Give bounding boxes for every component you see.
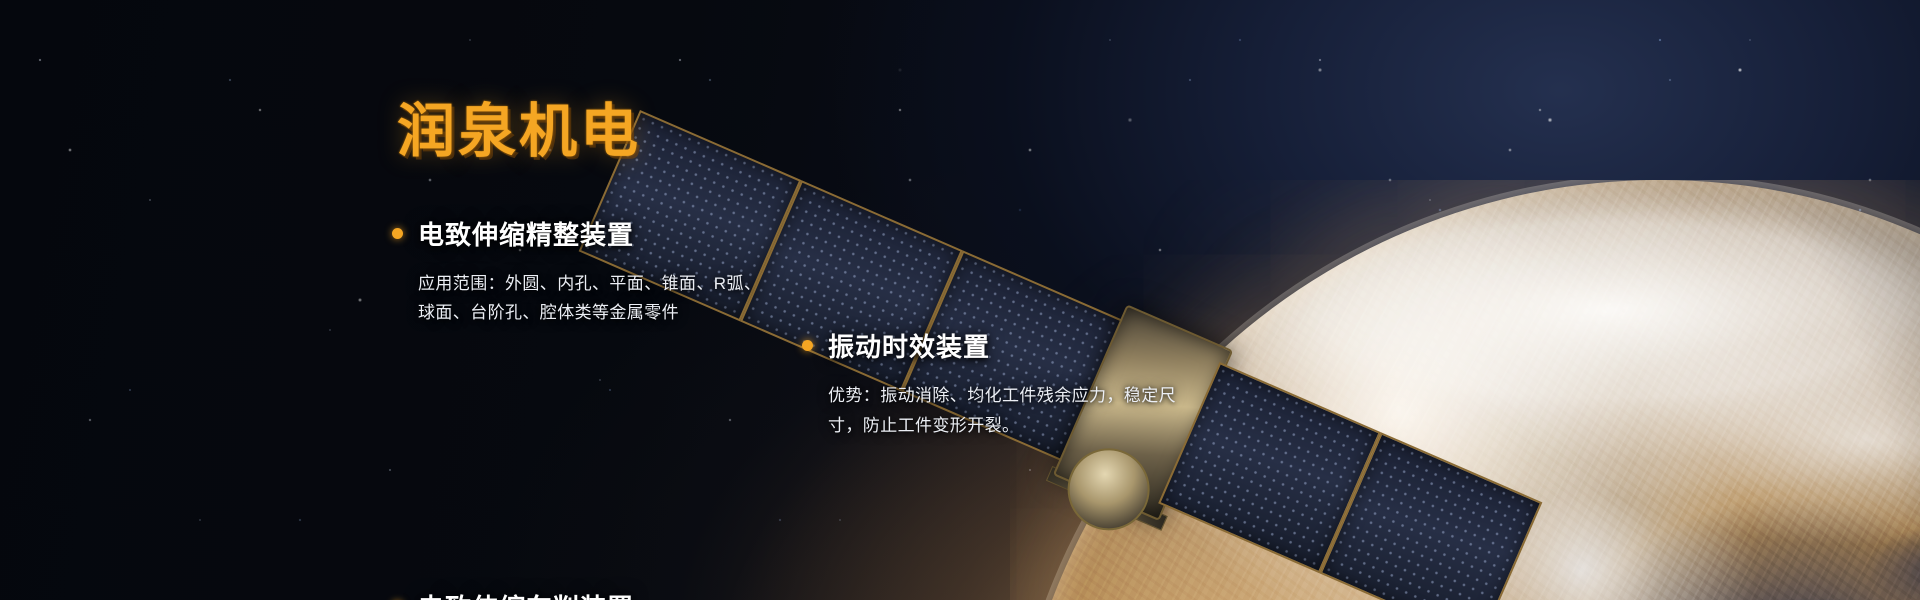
hero-banner: 润泉机电 电致伸缩精整装置 应用范围：外圆、内孔、平面、锥面、R弧、球面、台阶孔… xyxy=(0,0,1920,600)
feature-description: 优势：振动消除、均化工件残余应力，稳定尺寸，防止工件变形开裂。 xyxy=(802,381,1188,439)
feature-heading: 振动时效装置 xyxy=(802,327,1222,364)
feature-item-2[interactable]: 振动时效装置 优势：振动消除、均化工件残余应力，稳定尺寸，防止工件变形开裂。 xyxy=(802,327,1222,439)
feature-title: 电致伸缩车削装置 xyxy=(418,588,634,600)
feature-grid: 电致伸缩精整装置 应用范围：外圆、内孔、平面、锥面、R弧、球面、台阶孔、腔体类等… xyxy=(392,215,1272,600)
feature-item-3[interactable]: 电致伸缩车削装置 加工特点：针对钛、镍、锶、铌等稀有金属，解决车削工艺难题。 xyxy=(392,588,812,600)
bullet-dot-icon xyxy=(392,228,403,239)
feature-title: 振动时效装置 xyxy=(828,327,990,364)
feature-title: 电致伸缩精整装置 xyxy=(418,215,634,252)
banner-content: 润泉机电 电致伸缩精整装置 应用范围：外圆、内孔、平面、锥面、R弧、球面、台阶孔… xyxy=(0,0,1920,600)
feature-heading: 电致伸缩精整装置 xyxy=(392,215,812,252)
bullet-dot-icon xyxy=(802,340,813,351)
brand-title: 润泉机电 xyxy=(397,84,641,168)
feature-description: 应用范围：外圆、内孔、平面、锥面、R弧、球面、台阶孔、腔体类等金属零件 xyxy=(392,269,770,327)
feature-heading: 电致伸缩车削装置 xyxy=(392,588,812,600)
feature-item-1[interactable]: 电致伸缩精整装置 应用范围：外圆、内孔、平面、锥面、R弧、球面、台阶孔、腔体类等… xyxy=(392,215,812,327)
